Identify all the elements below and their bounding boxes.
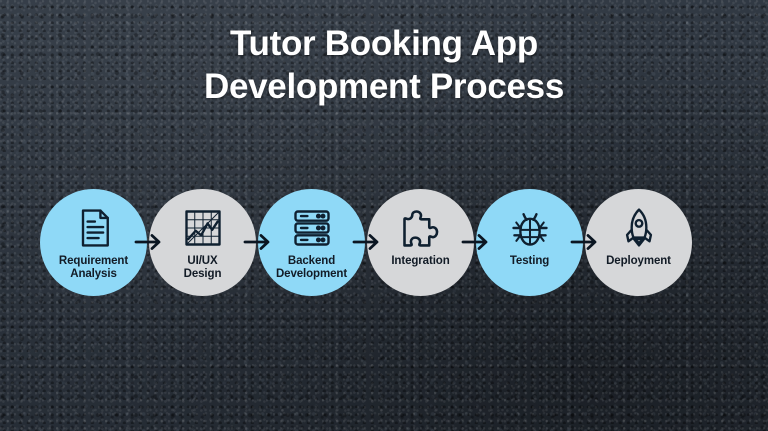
infographic-canvas: Tutor Booking App Development Process Re… bbox=[0, 0, 768, 431]
document-icon bbox=[71, 205, 117, 251]
title-line-1: Tutor Booking App bbox=[0, 22, 768, 65]
bug-icon bbox=[507, 205, 553, 251]
server-stack-icon bbox=[289, 205, 335, 251]
chart-grid-icon bbox=[180, 205, 226, 251]
rocket-icon bbox=[616, 205, 662, 251]
process-step-label: Deployment bbox=[575, 255, 703, 269]
flow-arrow bbox=[361, 232, 371, 252]
title-line-2: Development Process bbox=[0, 65, 768, 108]
flow-arrow bbox=[252, 232, 262, 252]
process-flow: Requirement Analysis UI/UX Design Backen… bbox=[40, 188, 728, 296]
flow-arrow bbox=[470, 232, 480, 252]
page-title: Tutor Booking App Development Process bbox=[0, 22, 768, 108]
flow-arrow bbox=[143, 232, 153, 252]
flow-arrow bbox=[579, 232, 589, 252]
puzzle-piece-icon bbox=[398, 205, 444, 251]
